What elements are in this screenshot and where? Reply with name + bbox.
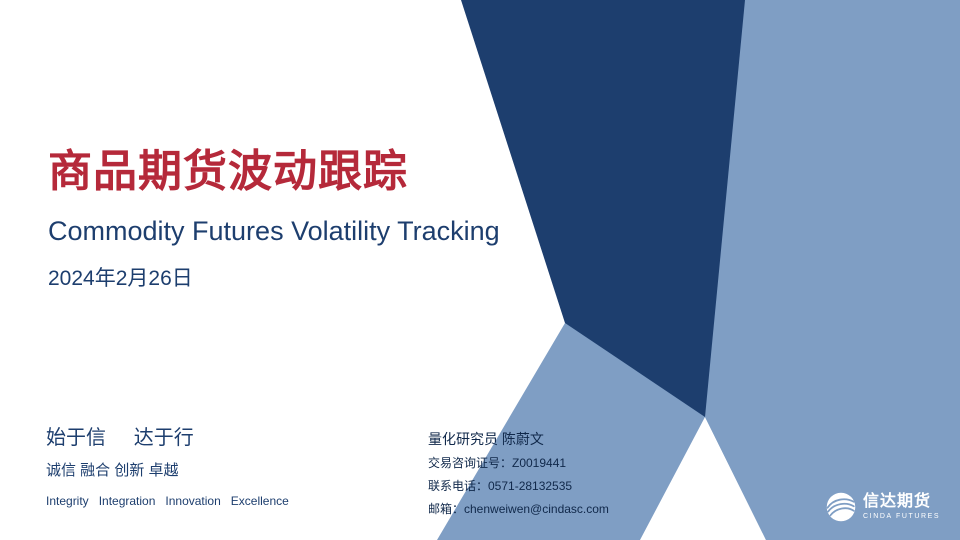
logo-wordmark: 信达期货 CINDA FUTURES: [863, 494, 940, 520]
page-title-chinese: 商品期货波动跟踪: [48, 148, 408, 196]
logo-name-chinese: 信达期货: [863, 494, 940, 510]
author-email: 邮箱：chenweiwen@cindasc.com: [428, 503, 728, 515]
page-title-english: Commodity Futures Volatility Tracking: [48, 216, 500, 247]
slogan-values-chinese: 诚信 融合 创新 卓越: [46, 463, 426, 478]
presentation-date: 2024年2月26日: [48, 266, 193, 291]
author-name: 量化研究员 陈蔚文: [428, 432, 728, 446]
slogan-primary: 始于信 达于行: [46, 428, 426, 448]
company-logo: 信达期货 CINDA FUTURES: [826, 492, 940, 522]
author-contact-block: 量化研究员 陈蔚文 交易咨询证号：Z0019441 联系电话：0571-2813…: [428, 432, 728, 515]
author-phone: 联系电话：0571-28132535: [428, 480, 728, 492]
author-license-number: 交易咨询证号：Z0019441: [428, 457, 728, 469]
company-slogan: 始于信 达于行 诚信 融合 创新 卓越 Integrity Integratio…: [46, 428, 426, 507]
cinda-swoosh-icon: [826, 492, 856, 522]
slogan-values-english: Integrity Integration Innovation Excelle…: [46, 495, 426, 507]
title-slide: 商品期货波动跟踪 Commodity Futures Volatility Tr…: [0, 0, 960, 540]
logo-name-english: CINDA FUTURES: [863, 513, 940, 520]
